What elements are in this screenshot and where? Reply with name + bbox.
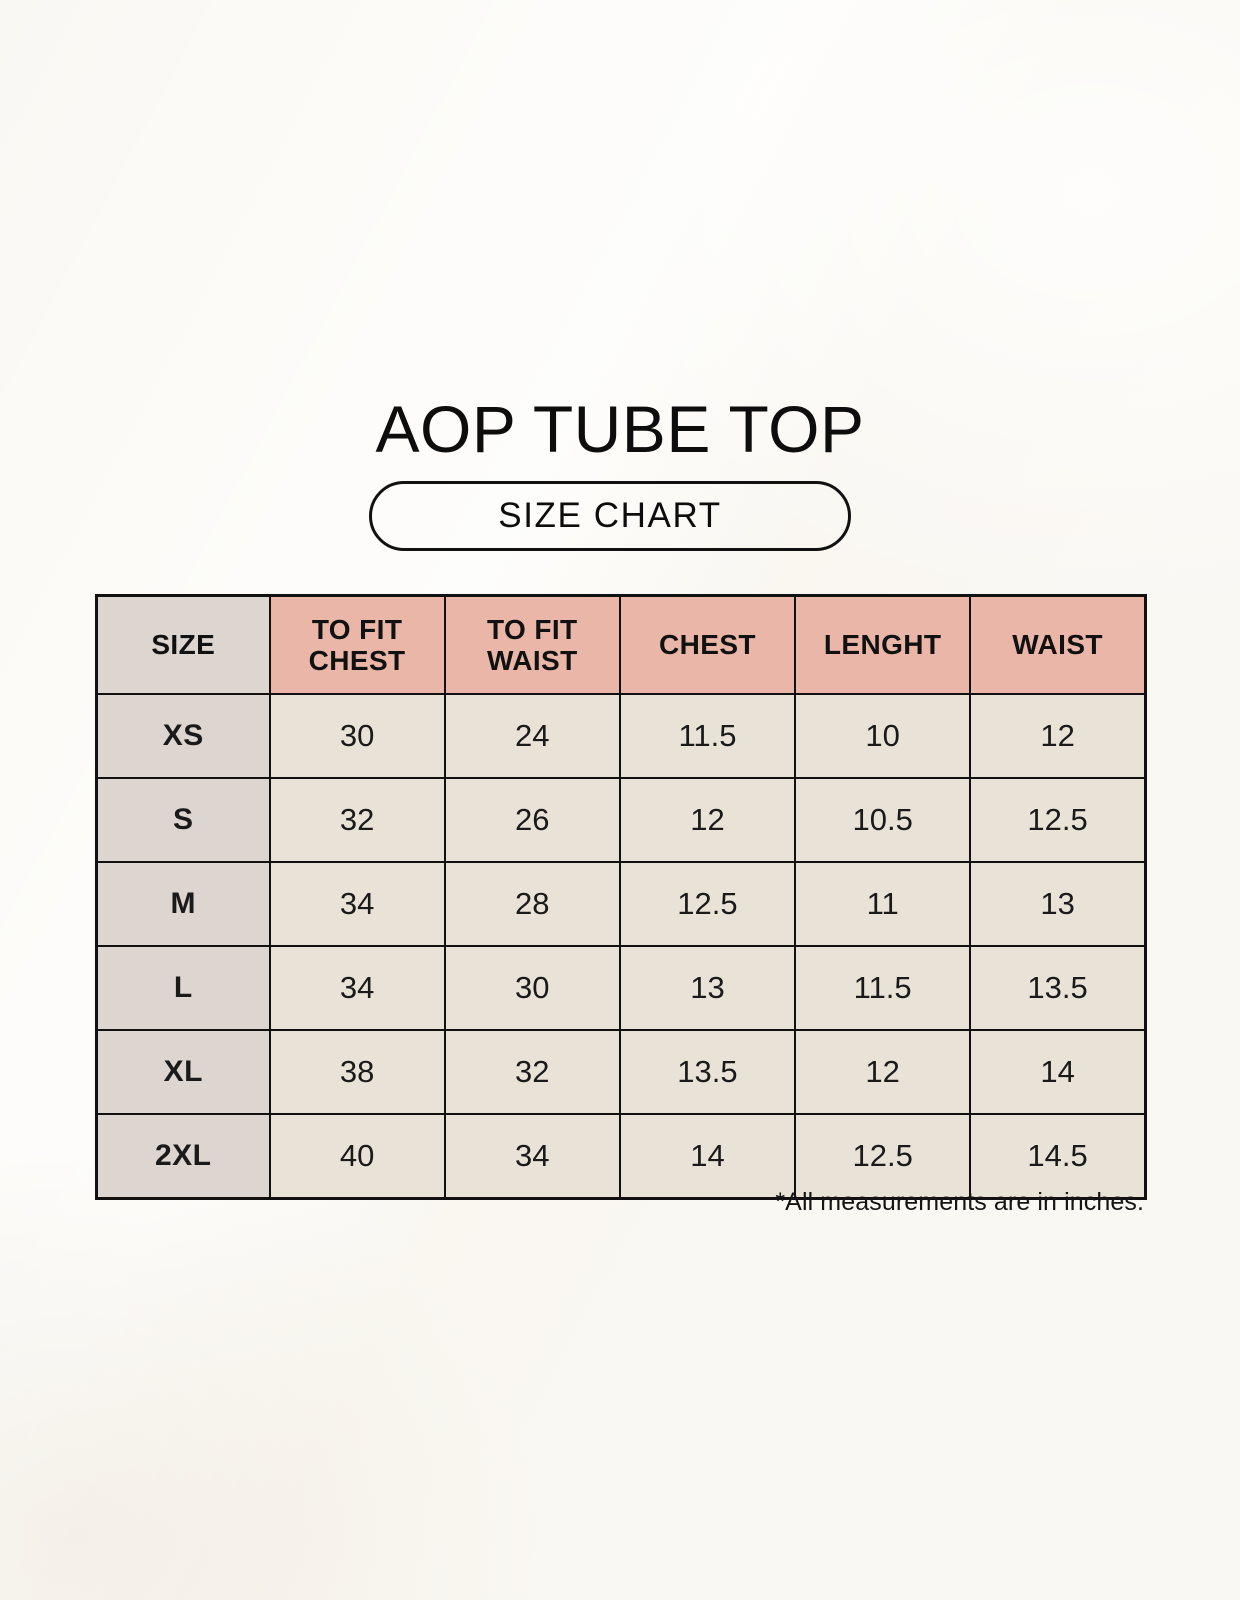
table-row: S32261210.512.5 bbox=[97, 778, 1146, 862]
measurement-cell-chest: 13.5 bbox=[620, 1030, 795, 1114]
measurement-cell-to-fit-waist: 30 bbox=[445, 946, 620, 1030]
table-row: M342812.51113 bbox=[97, 862, 1146, 946]
measurement-cell-waist: 13.5 bbox=[970, 946, 1145, 1030]
size-label-cell: XS bbox=[97, 694, 270, 778]
measurement-cell-to-fit-waist: 34 bbox=[445, 1114, 620, 1199]
measurement-cell-to-fit-chest: 38 bbox=[270, 1030, 445, 1114]
size-table-head: SIZETO FIT CHESTTO FIT WAISTCHESTLENGHTW… bbox=[97, 596, 1146, 695]
size-table: SIZETO FIT CHESTTO FIT WAISTCHESTLENGHTW… bbox=[95, 594, 1147, 1200]
measurement-cell-to-fit-chest: 40 bbox=[270, 1114, 445, 1199]
size-label-cell: S bbox=[97, 778, 270, 862]
size-label-cell: L bbox=[97, 946, 270, 1030]
measurement-cell-to-fit-waist: 32 bbox=[445, 1030, 620, 1114]
page-title: AOP TUBE TOP bbox=[0, 396, 1240, 462]
table-row: XL383213.51214 bbox=[97, 1030, 1146, 1114]
measurement-cell-to-fit-chest: 34 bbox=[270, 862, 445, 946]
measurement-cell-chest: 12.5 bbox=[620, 862, 795, 946]
size-label-cell: XL bbox=[97, 1030, 270, 1114]
column-header-to-fit-waist: TO FIT WAIST bbox=[445, 596, 620, 695]
table-row: XS302411.51012 bbox=[97, 694, 1146, 778]
measurement-cell-lenght: 10 bbox=[795, 694, 970, 778]
measurement-cell-to-fit-chest: 34 bbox=[270, 946, 445, 1030]
measurement-cell-lenght: 10.5 bbox=[795, 778, 970, 862]
size-chart-page: AOP TUBE TOP SIZE CHART SIZETO FIT CHEST… bbox=[0, 0, 1240, 1600]
column-header-to-fit-chest: TO FIT CHEST bbox=[270, 596, 445, 695]
measurement-cell-lenght: 11.5 bbox=[795, 946, 970, 1030]
measurement-cell-chest: 12 bbox=[620, 778, 795, 862]
measurement-units-footnote: *All measurements are in inches. bbox=[95, 1188, 1144, 1217]
measurement-cell-lenght: 12.5 bbox=[795, 1114, 970, 1199]
measurement-cell-chest: 13 bbox=[620, 946, 795, 1030]
measurement-cell-waist: 12 bbox=[970, 694, 1145, 778]
size-chart-badge-label: SIZE CHART bbox=[498, 496, 721, 536]
table-header-row: SIZETO FIT CHESTTO FIT WAISTCHESTLENGHTW… bbox=[97, 596, 1146, 695]
measurement-cell-to-fit-waist: 24 bbox=[445, 694, 620, 778]
table-row: L34301311.513.5 bbox=[97, 946, 1146, 1030]
measurement-cell-waist: 14.5 bbox=[970, 1114, 1145, 1199]
measurement-cell-to-fit-chest: 30 bbox=[270, 694, 445, 778]
size-table-container: SIZETO FIT CHESTTO FIT WAISTCHESTLENGHTW… bbox=[95, 594, 1144, 1200]
measurement-cell-lenght: 12 bbox=[795, 1030, 970, 1114]
column-header-chest: CHEST bbox=[620, 596, 795, 695]
column-header-waist: WAIST bbox=[970, 596, 1145, 695]
size-table-body: XS302411.51012S32261210.512.5M342812.511… bbox=[97, 694, 1146, 1199]
measurement-cell-chest: 14 bbox=[620, 1114, 795, 1199]
measurement-cell-chest: 11.5 bbox=[620, 694, 795, 778]
table-row: 2XL40341412.514.5 bbox=[97, 1114, 1146, 1199]
size-label-cell: M bbox=[97, 862, 270, 946]
measurement-cell-to-fit-chest: 32 bbox=[270, 778, 445, 862]
measurement-cell-waist: 12.5 bbox=[970, 778, 1145, 862]
measurement-cell-lenght: 11 bbox=[795, 862, 970, 946]
measurement-cell-waist: 14 bbox=[970, 1030, 1145, 1114]
column-header-size: SIZE bbox=[97, 596, 270, 695]
column-header-lenght: LENGHT bbox=[795, 596, 970, 695]
measurement-cell-waist: 13 bbox=[970, 862, 1145, 946]
size-label-cell: 2XL bbox=[97, 1114, 270, 1199]
measurement-cell-to-fit-waist: 26 bbox=[445, 778, 620, 862]
size-chart-badge: SIZE CHART bbox=[369, 481, 851, 551]
measurement-cell-to-fit-waist: 28 bbox=[445, 862, 620, 946]
